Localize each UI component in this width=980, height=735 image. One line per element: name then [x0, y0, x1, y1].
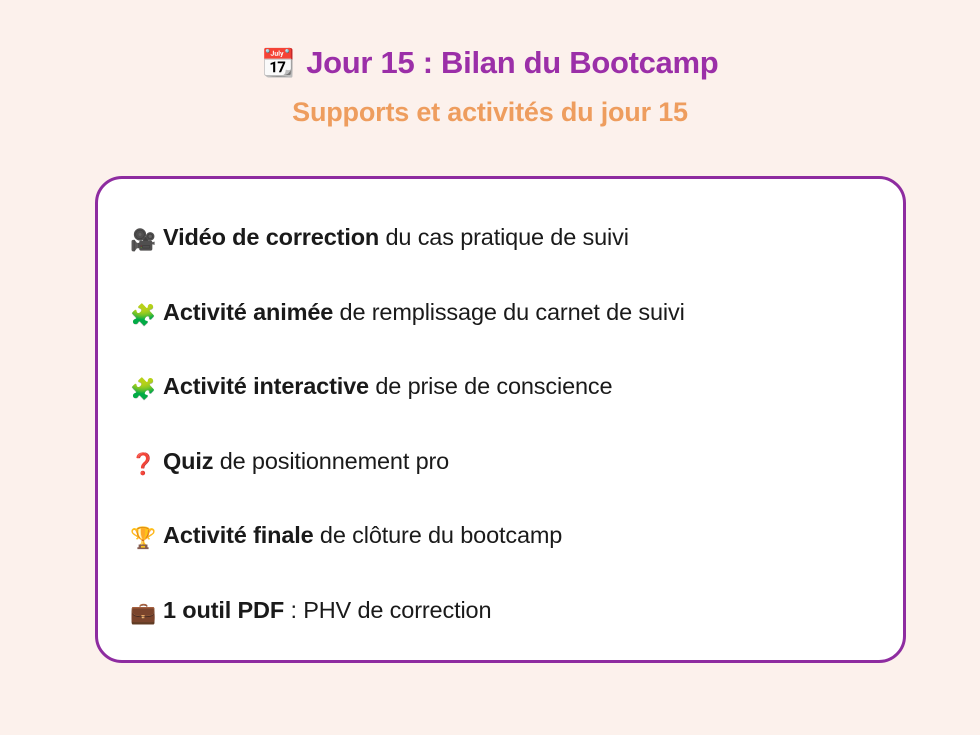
list-item-label: Vidéo de correction [163, 224, 379, 250]
list-item-label: Quiz [163, 448, 213, 474]
list-item-label: Activité finale [163, 522, 314, 548]
list-item-text: Activité interactive de prise de conscie… [163, 349, 612, 424]
puzzle-piece-icon: 🧩 [130, 379, 163, 400]
content-card: 🎥 Vidéo de correction du cas pratique de… [95, 176, 906, 663]
list-item-detail: de clôture du bootcamp [314, 522, 563, 548]
list-item-label: Activité interactive [163, 373, 369, 399]
list-item-text: Vidéo de correction du cas pratique de s… [163, 200, 629, 275]
list-item: 🎥 Vidéo de correction du cas pratique de… [130, 200, 883, 275]
trophy-icon: 🏆 [130, 528, 163, 549]
page-title-text: Jour 15 : Bilan du Bootcamp [306, 47, 718, 78]
list-item-label: Activité animée [163, 299, 333, 325]
list-item: ❓ Quiz de positionnement pro [130, 424, 883, 499]
list-item-text: Activité finale de clôture du bootcamp [163, 498, 562, 573]
list-item-detail: de remplissage du carnet de suivi [333, 299, 685, 325]
page-title: 📆 Jour 15 : Bilan du Bootcamp [0, 47, 980, 78]
question-mark-icon: ❓ [130, 454, 163, 475]
briefcase-icon: 💼 [130, 603, 163, 624]
list-item: 🏆 Activité finale de clôture du bootcamp [130, 498, 883, 573]
list-item-text: Quiz de positionnement pro [163, 424, 449, 499]
page-subtitle: Supports et activités du jour 15 [0, 97, 980, 128]
tear-off-calendar-icon: 📆 [262, 50, 296, 77]
list-item: 🧩 Activité interactive de prise de consc… [130, 349, 883, 424]
list-item: 💼 1 outil PDF : PHV de correction [130, 573, 883, 648]
list-item-detail: du cas pratique de suivi [379, 224, 629, 250]
list-item: 🧩 Activité animée de remplissage du carn… [130, 275, 883, 350]
list-item-label: 1 outil PDF [163, 597, 284, 623]
supports-list: 🎥 Vidéo de correction du cas pratique de… [130, 200, 883, 647]
list-item-detail: de positionnement pro [213, 448, 449, 474]
slide-root: 📆 Jour 15 : Bilan du Bootcamp Supports e… [0, 0, 980, 735]
list-item-text: Activité animée de remplissage du carnet… [163, 275, 685, 350]
list-item-text: 1 outil PDF : PHV de correction [163, 573, 491, 648]
movie-camera-icon: 🎥 [130, 230, 163, 251]
list-item-detail: de prise de conscience [369, 373, 612, 399]
puzzle-piece-icon: 🧩 [130, 305, 163, 326]
header: 📆 Jour 15 : Bilan du Bootcamp Supports e… [0, 0, 980, 128]
list-item-detail: : PHV de correction [284, 597, 491, 623]
